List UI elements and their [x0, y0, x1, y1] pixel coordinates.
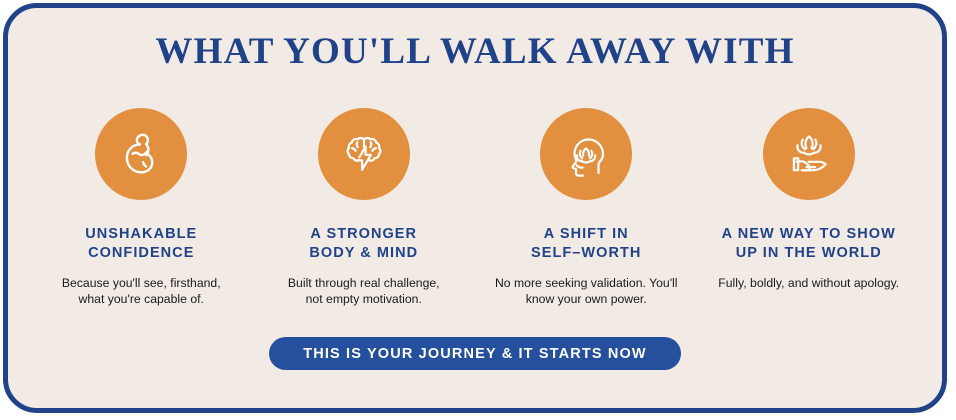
flexed-bicep-icon [95, 108, 187, 200]
feature-title-line: CONFIDENCE [85, 244, 197, 263]
feature-column: A STRONGER BODY & MIND Built through rea… [253, 108, 476, 308]
feature-title-line: A SHIFT IN [531, 225, 641, 244]
head-lotus-icon [540, 108, 632, 200]
feature-description: Fully, boldly, and without apology. [718, 275, 899, 291]
features-row: UNSHAKABLE CONFIDENCE Because you'll see… [30, 108, 920, 308]
feature-column: A SHIFT IN SELF–WORTH No more seeking va… [475, 108, 698, 308]
feature-column: UNSHAKABLE CONFIDENCE Because you'll see… [30, 108, 253, 308]
feature-desc-line: Built through real challenge, [288, 275, 440, 291]
feature-description: No more seeking validation. You'll know … [495, 275, 678, 307]
feature-title: A STRONGER BODY & MIND [309, 225, 418, 262]
feature-desc-line: No more seeking validation. You'll [495, 275, 678, 291]
feature-title: A NEW WAY TO SHOW UP IN THE WORLD [722, 225, 896, 262]
feature-title-line: SELF–WORTH [531, 244, 641, 263]
feature-title-line: UNSHAKABLE [85, 225, 197, 244]
feature-desc-line: what you're capable of. [62, 291, 221, 307]
feature-desc-line: Because you'll see, firsthand, [62, 275, 221, 291]
feature-title-line: UP IN THE WORLD [722, 244, 896, 263]
promo-card: WHAT YOU'LL WALK AWAY WITH UNSHAKABLE CO… [3, 3, 947, 413]
page-title: WHAT YOU'LL WALK AWAY WITH [8, 30, 942, 73]
feature-title-line: A NEW WAY TO SHOW [722, 225, 896, 244]
feature-description: Built through real challenge, not empty … [288, 275, 440, 307]
cta-button[interactable]: THIS IS YOUR JOURNEY & IT STARTS NOW [269, 337, 681, 370]
feature-desc-line: Fully, boldly, and without apology. [718, 275, 899, 291]
feature-desc-line: not empty motivation. [288, 291, 440, 307]
hand-lotus-icon [763, 108, 855, 200]
feature-description: Because you'll see, firsthand, what you'… [62, 275, 221, 307]
feature-title: UNSHAKABLE CONFIDENCE [85, 225, 197, 262]
feature-title-line: BODY & MIND [309, 244, 418, 263]
feature-title: A SHIFT IN SELF–WORTH [531, 225, 641, 262]
feature-title-line: A STRONGER [309, 225, 418, 244]
feature-desc-line: know your own power. [495, 291, 678, 307]
cta-container: THIS IS YOUR JOURNEY & IT STARTS NOW [8, 337, 942, 370]
brain-lightning-icon [318, 108, 410, 200]
feature-column: A NEW WAY TO SHOW UP IN THE WORLD Fully,… [698, 108, 921, 291]
